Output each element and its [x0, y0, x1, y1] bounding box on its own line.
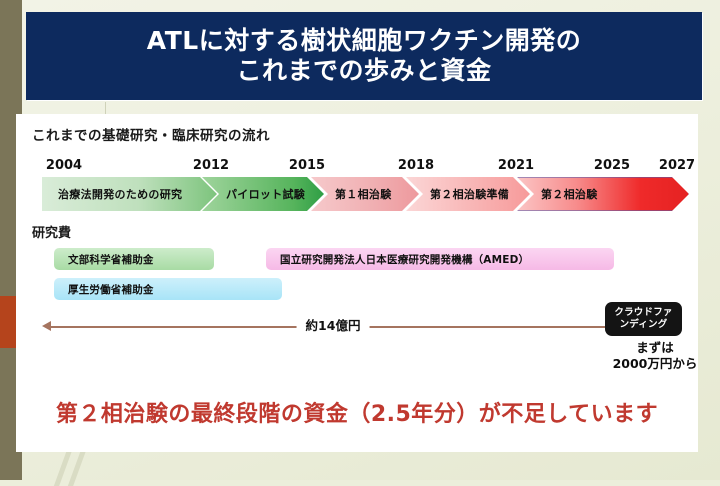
timeline-phase-3[interactable]: 第１相治験 — [311, 177, 419, 211]
funding-bar-mhlw[interactable]: 厚生労働省補助金 — [54, 278, 282, 300]
timeline-phase-1-label: 治療法開発のための研究 — [42, 186, 182, 202]
timeline-phase-2[interactable]: パイロット試験 — [202, 177, 324, 211]
timeline-year-2027: 2027 — [659, 158, 695, 173]
funding-bar-amed-label: 国立研究開発法人日本医療研究開発機構（AMED） — [266, 252, 529, 267]
timeline-year-2025: 2025 — [594, 158, 630, 173]
timeline-year-2015: 2015 — [289, 158, 325, 173]
content-card: これまでの基礎研究・臨床研究の流れ 2004 2012 2015 2018 20… — [16, 114, 698, 452]
total-amount-measure: 約14億円 — [42, 318, 624, 334]
timeline-year-2021: 2021 — [498, 158, 534, 173]
crowdfunding-badge-line-1: クラウドファ — [614, 307, 672, 319]
timeline-phase-4-label: 第２相治験準備 — [406, 186, 509, 202]
crowdfunding-subtext-line-2: 2000万円から — [605, 356, 705, 372]
timeline-year-2012: 2012 — [193, 158, 229, 173]
funding-bar-mext-label: 文部科学省補助金 — [54, 252, 154, 267]
timeline-phase-5[interactable]: 第２相治験 — [517, 177, 689, 211]
timeline-year-axis: 2004 2012 2015 2018 2021 2025 2027 — [16, 158, 698, 176]
bottom-message: 第２相治験の最終段階の資金（2.5年分）が不足しています — [16, 396, 698, 428]
funding-heading: 研究費 — [32, 222, 71, 241]
timeline-phase-1[interactable]: 治療法開発のための研究 — [42, 177, 217, 211]
crowdfunding-subtext-line-1: まずは — [605, 340, 705, 356]
timeline-phase-4[interactable]: 第２相治験準備 — [406, 177, 530, 211]
crowdfunding-badge[interactable]: クラウドファ ンディング — [605, 302, 682, 336]
slide-root: ATLに対する樹状細胞ワクチン開発の これまでの歩みと資金 これまでの基礎研究・… — [0, 0, 720, 480]
crowdfunding-subtext: まずは 2000万円から — [605, 340, 705, 373]
total-amount-label: 約14億円 — [297, 315, 370, 334]
funding-bar-mhlw-label: 厚生労働省補助金 — [54, 282, 154, 297]
timeline-phase-2-label: パイロット試験 — [202, 186, 305, 202]
timeline-year-2004: 2004 — [46, 158, 82, 173]
card-heading: これまでの基礎研究・臨床研究の流れ — [32, 124, 270, 144]
timeline-chevrons: 治療法開発のための研究 パイロット試験 第１相治験 第２相治験準備 第２相治験 — [16, 177, 698, 211]
funding-bar-amed[interactable]: 国立研究開発法人日本医療研究開発機構（AMED） — [266, 248, 614, 270]
timeline-year-2018: 2018 — [398, 158, 434, 173]
slide-title-line-2: これまでの歩みと資金 — [236, 56, 491, 87]
funding-bar-mext[interactable]: 文部科学省補助金 — [54, 248, 214, 270]
slide-title-bar: ATLに対する樹状細胞ワクチン開発の これまでの歩みと資金 — [26, 12, 702, 100]
slide-title-line-1: ATLに対する樹状細胞ワクチン開発の — [147, 26, 581, 57]
crowdfunding-badge-line-2: ンディング — [620, 319, 668, 331]
